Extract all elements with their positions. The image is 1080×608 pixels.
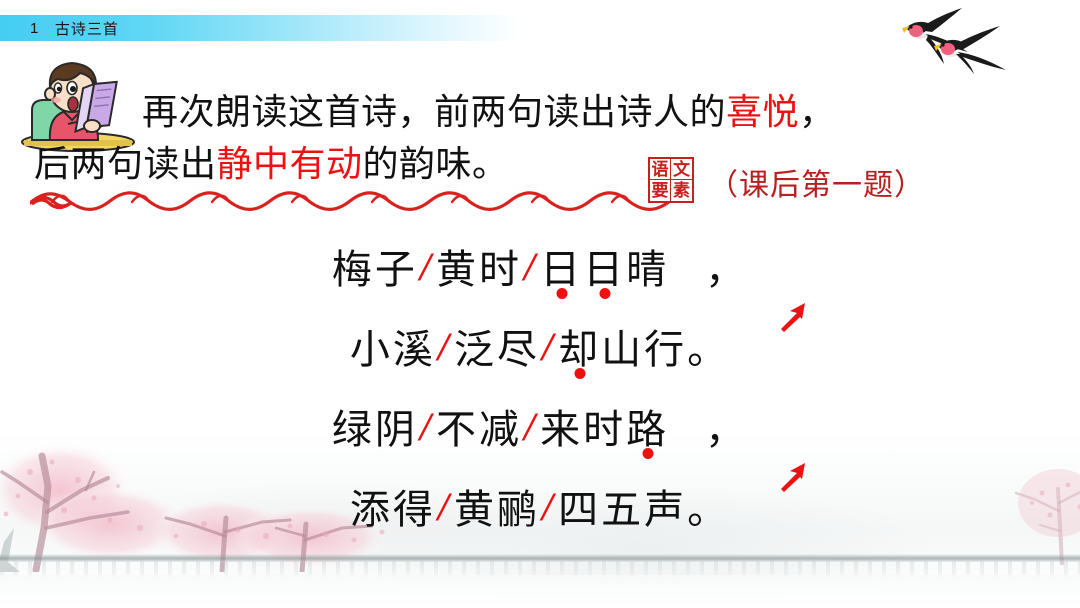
seal-char-bottom-right: 素 bbox=[671, 180, 692, 201]
instruction-line1-highlight: 喜悦 bbox=[726, 91, 799, 132]
poem-dotted-char: 路 bbox=[626, 397, 669, 455]
lesson-title: 古诗三首 bbox=[55, 18, 119, 39]
poem-line4-seg2: 黄鹂 bbox=[454, 477, 540, 535]
poem-line1-seg1: 梅子 bbox=[332, 237, 418, 295]
poem-line4-slash1: / bbox=[436, 483, 454, 530]
poem-line2-seg3-tail: 山行 bbox=[601, 327, 687, 372]
post-lesson-question-note: （课后第一题） bbox=[708, 160, 925, 204]
rising-tone-arrow-icon bbox=[671, 409, 705, 443]
poem-line2-slash1: / bbox=[436, 323, 454, 370]
poem-line4-slash2: / bbox=[540, 483, 558, 530]
poem-line1-seg3-tail: 晴 bbox=[626, 247, 669, 292]
poem-line3-slash2: / bbox=[522, 403, 540, 450]
poem-line4-punct: 。 bbox=[687, 477, 730, 535]
instruction-line2-highlight: 静中有动 bbox=[217, 143, 363, 184]
poem-line2-seg2: 泛尽 bbox=[454, 317, 540, 375]
poem-line3-punct: ， bbox=[705, 397, 748, 455]
poem-line1-seg3: 日日晴 bbox=[540, 237, 669, 295]
poem-line3-seg1: 绿阴 bbox=[332, 397, 418, 455]
poem-line3-seg3-head: 来时 bbox=[540, 407, 626, 452]
slide-canvas: 1 古诗三首 bbox=[0, 0, 1080, 608]
poem-line-1: 梅子 / 黄时 / 日日晴 ， bbox=[0, 226, 1080, 306]
poem-line4-seg1: 添得 bbox=[350, 477, 436, 535]
poem-line2-seg3: 却山行 bbox=[558, 317, 687, 375]
poem-line1-slash2: / bbox=[522, 243, 540, 290]
instruction-line1-part1: 再次朗读这首诗，前两句读出诗人的 bbox=[142, 91, 726, 132]
bottom-fade bbox=[0, 575, 1080, 608]
yuwen-yaosu-seal-stamp: 语 文 要 素 bbox=[648, 157, 694, 203]
rising-tone-arrow-icon bbox=[671, 249, 705, 283]
swallows-illustration bbox=[888, 2, 1068, 74]
scalloped-fence-strip bbox=[0, 561, 1080, 583]
poem-dotted-char: 日 bbox=[540, 237, 583, 295]
poem-line-3: 绿阴 / 不减 / 来时路 ， bbox=[0, 386, 1080, 466]
seal-char-bottom-left: 要 bbox=[650, 180, 671, 201]
poem-line2-seg1: 小溪 bbox=[350, 317, 436, 375]
instruction-line2-part2: 的韵味。 bbox=[363, 143, 509, 184]
lesson-header-bar: 1 古诗三首 bbox=[0, 15, 520, 41]
seal-char-top-left: 语 bbox=[650, 159, 671, 180]
poem-line2-punct: 。 bbox=[687, 317, 730, 375]
poem-dotted-char: 却 bbox=[558, 317, 601, 375]
seal-char-top-right: 文 bbox=[671, 159, 692, 180]
poem-line3-seg2: 不减 bbox=[436, 397, 522, 455]
instruction-line1-part2: ， bbox=[799, 91, 836, 132]
railing-line bbox=[0, 554, 1080, 562]
poem-line-2: 小溪 / 泛尽 / 却山行 。 bbox=[0, 306, 1080, 386]
poem-line4-seg3: 四五声 bbox=[558, 477, 687, 535]
poem-line1-punct: ， bbox=[705, 237, 748, 295]
poem-dotted-char: 日 bbox=[583, 237, 626, 295]
lesson-number: 1 bbox=[30, 20, 39, 37]
poem-line1-slash1: / bbox=[418, 243, 436, 290]
poem-line3-slash1: / bbox=[418, 403, 436, 450]
poem-body: 梅子 / 黄时 / 日日晴 ， 小溪 / 泛尽 / 却山行 。 绿阴 / 不减 … bbox=[0, 226, 1080, 546]
poem-line3-seg3: 来时路 bbox=[540, 397, 669, 455]
poem-line2-slash2: / bbox=[540, 323, 558, 370]
poem-line-4: 添得 / 黄鹂 / 四五声 。 bbox=[0, 466, 1080, 546]
instruction-line-1: 再次朗读这首诗，前两句读出诗人的喜悦， bbox=[34, 86, 1054, 138]
poem-line1-seg2: 黄时 bbox=[436, 237, 522, 295]
instruction-line2-part1: 后两句读出 bbox=[34, 143, 217, 184]
red-wavy-underline bbox=[30, 190, 680, 212]
